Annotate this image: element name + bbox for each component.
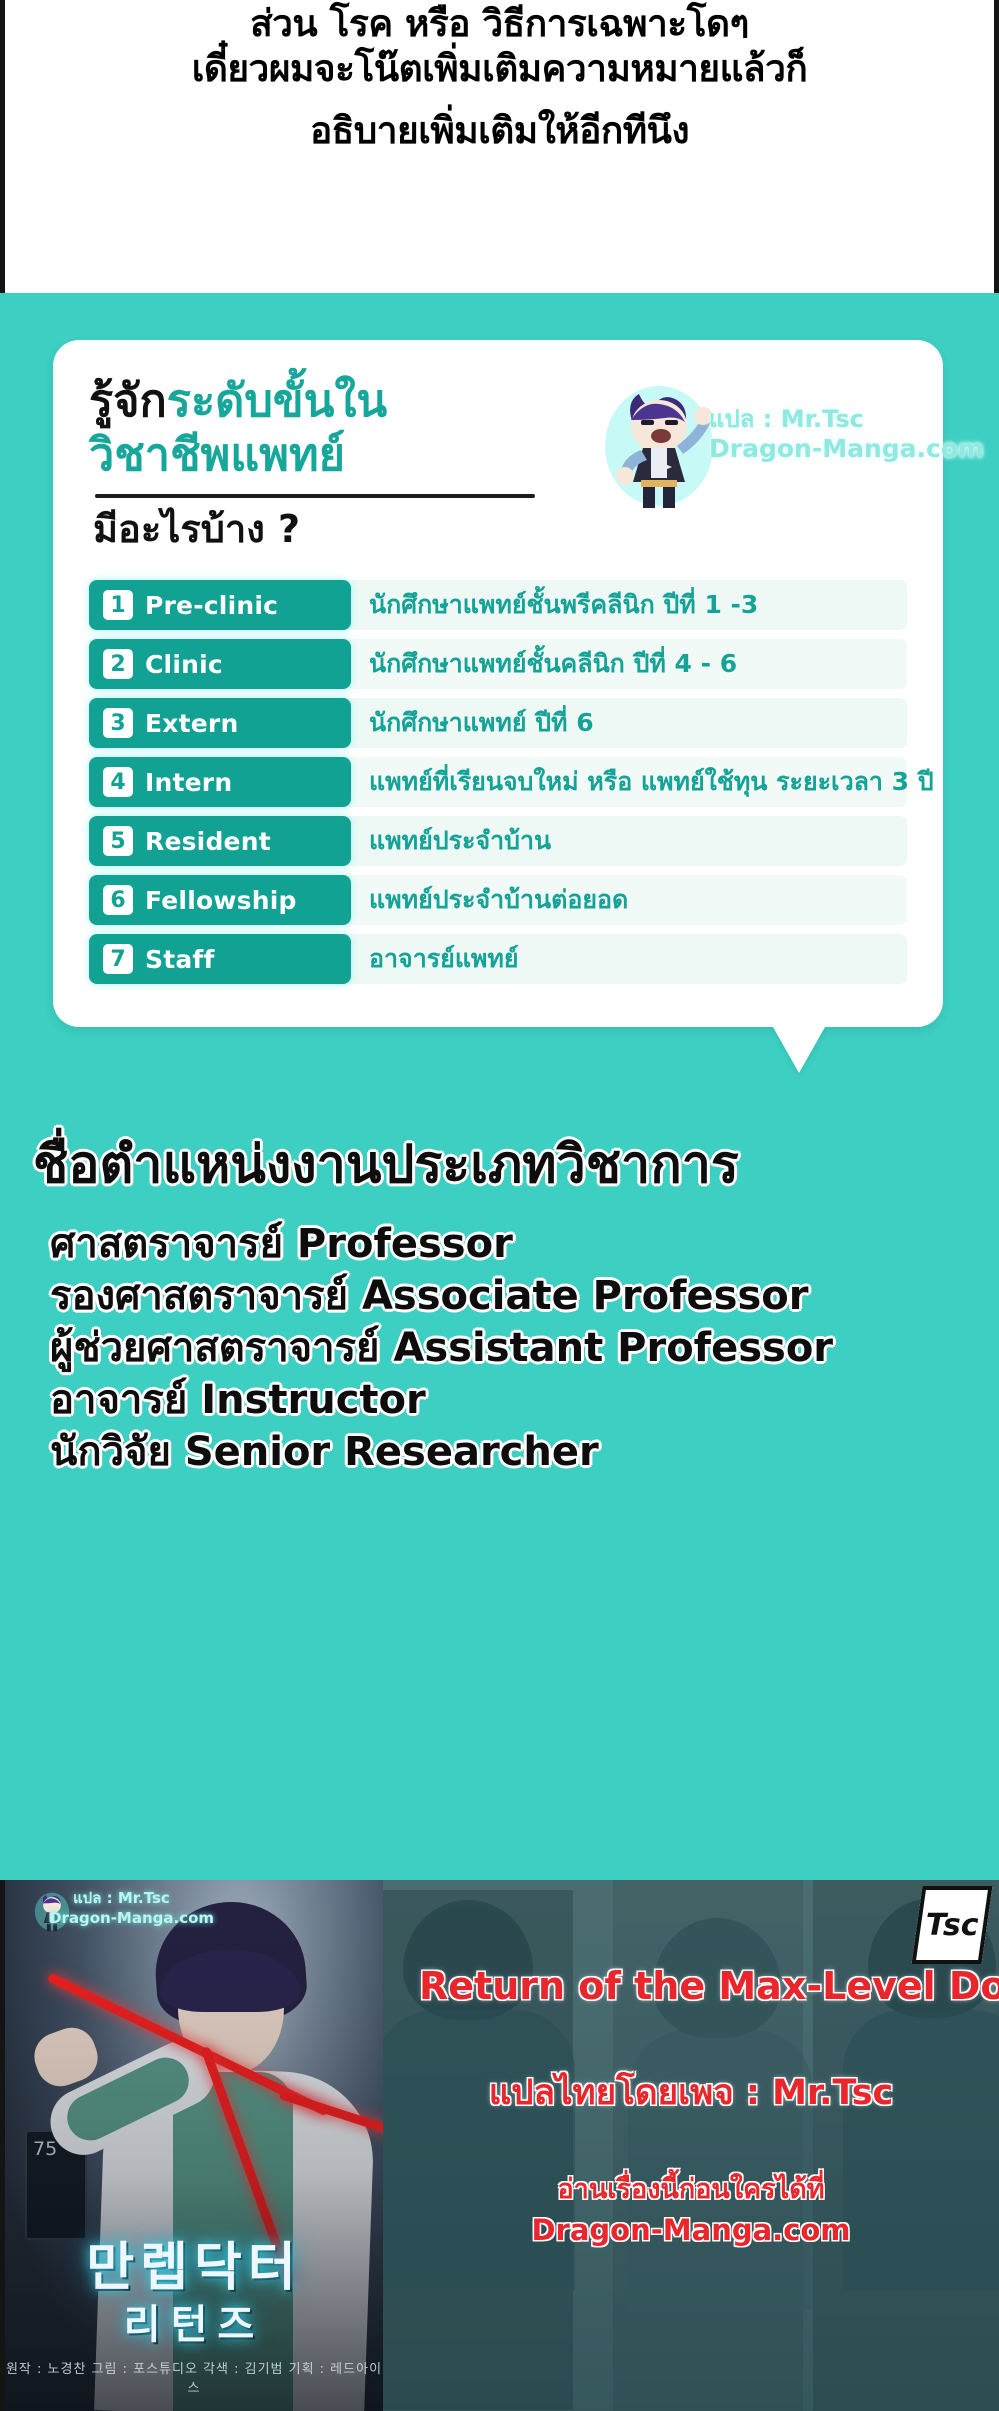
level-number: 5 bbox=[103, 826, 133, 856]
job-title: นักวิจัย Senior Researcher bbox=[50, 1426, 990, 1478]
site-url-text: Dragon-Manga.com bbox=[383, 2210, 999, 2250]
level-badge: 5 Resident bbox=[89, 816, 351, 866]
narration-line-3: อธิบายเพิ่มเติมให้อีกทีนึง bbox=[310, 100, 689, 162]
list-item: 6 Fellowship แพทย์ประจำบ้านต่อยอด bbox=[89, 875, 907, 925]
info-card-header: รู้จักระดับขั้นใน วิชาชีพแพทย์ มีอะไรบ้า… bbox=[89, 374, 907, 554]
job-title: ผู้ช่วยศาสตราจารย์ Assistant Professor bbox=[50, 1322, 990, 1374]
level-description: นักศึกษาแพทย์ชั้นพรีคลีนิก ปีที่ 1 -3 bbox=[351, 580, 907, 630]
level-badge: 7 Staff bbox=[89, 934, 351, 984]
level-description: แพทย์ประจำบ้าน bbox=[351, 816, 907, 866]
series-cover-art: 75 แปล : Mr.Tsc bbox=[5, 1880, 383, 2411]
chibi-character-icon bbox=[599, 380, 719, 508]
level-label: Fellowship bbox=[145, 886, 297, 915]
level-list: 1 Pre-clinic นักศึกษาแพทย์ชั้นพรีคลีนิก … bbox=[89, 580, 907, 984]
comic-page: ส่วน โรค หรือ วิธีการเฉพาะโดๆ เดี๋ยวผมจะ… bbox=[0, 0, 999, 2411]
level-label: Intern bbox=[145, 768, 232, 797]
narration-line-2: เดี๋ยวผมจะโน๊ตเพิ่มเติมความหมายแล้วก็ bbox=[192, 38, 808, 100]
level-description: อาจารย์แพทย์ bbox=[351, 934, 907, 984]
list-item: 1 Pre-clinic นักศึกษาแพทย์ชั้นพรีคลีนิก … bbox=[89, 580, 907, 630]
list-item: 7 Staff อาจารย์แพทย์ bbox=[89, 934, 907, 984]
list-item: 4 Intern แพทย์ที่เรียนจบใหม่ หรือ แพทย์ใ… bbox=[89, 757, 907, 807]
level-number: 2 bbox=[103, 649, 133, 679]
watermark: แปล : Mr.Tsc Dragon-Manga.com bbox=[709, 404, 969, 464]
watermark-line-2: Dragon-Manga.com bbox=[709, 434, 969, 464]
series-korean-title: 만렙닥터 bbox=[5, 2225, 383, 2300]
read-first-text: อ่านเรื่องนี้ก่อนใครได้ที่ bbox=[383, 2170, 999, 2210]
teal-section: รู้จักระดับขั้นใน วิชาชีพแพทย์ มีอะไรบ้า… bbox=[0, 293, 999, 1880]
level-number: 1 bbox=[103, 590, 133, 620]
level-description: แพทย์ที่เรียนจบใหม่ หรือ แพทย์ใช้ทุน ระย… bbox=[351, 757, 934, 807]
watermark-line-1: แปล : Mr.Tsc bbox=[709, 404, 969, 434]
list-item: 3 Extern นักศึกษาแพทย์ ปีที่ 6 bbox=[89, 698, 907, 748]
level-label: Pre-clinic bbox=[145, 591, 278, 620]
level-label: Extern bbox=[145, 709, 238, 738]
level-label: Clinic bbox=[145, 650, 223, 679]
title-divider bbox=[95, 494, 535, 498]
translator-credit: แปลไทยโดยเพจ : Mr.Tsc bbox=[383, 2068, 999, 2118]
level-badge: 3 Extern bbox=[89, 698, 351, 748]
level-description: แพทย์ประจำบ้านต่อยอด bbox=[351, 875, 907, 925]
chibi-watermark-group: แปล : Mr.Tsc Dragon-Manga.com bbox=[599, 380, 959, 510]
series-credits: 원작 : 노경찬 그림 : 포스튜디오 각색 : 김기범 기획 : 레드아이스 bbox=[5, 2358, 383, 2396]
cover-watermark: แปล : Mr.Tsc Dragon-Manga.com bbox=[29, 1888, 259, 1928]
level-number: 3 bbox=[103, 708, 133, 738]
promo-text-group: Return of the Max-Level Doctor แปลไทยโดย… bbox=[383, 1880, 999, 2411]
narration-line-1: ส่วน โรค หรือ วิธีการเฉพาะโดๆ bbox=[250, 0, 749, 38]
series-korean-subtitle: 리턴즈 bbox=[5, 2292, 383, 2350]
cover-watermark-line-1: แปล : Mr.Tsc bbox=[73, 1888, 259, 1908]
level-badge: 6 Fellowship bbox=[89, 875, 351, 925]
job-title: อาจารย์ Instructor bbox=[50, 1374, 990, 1426]
series-english-title: Return of the Max-Level Doctor bbox=[419, 1960, 999, 2012]
page-title: ชื่อตำแหน่งงานประเภทวิชาการ bbox=[33, 1133, 739, 1197]
level-badge: 4 Intern bbox=[89, 757, 351, 807]
cover-watermark-line-2: Dragon-Manga.com bbox=[49, 1908, 259, 1928]
level-badge: 2 Clinic bbox=[89, 639, 351, 689]
panel-border-left bbox=[0, 0, 5, 293]
job-title: ศาสตราจารย์ Professor bbox=[50, 1218, 990, 1270]
list-item: 5 Resident แพทย์ประจำบ้าน bbox=[89, 816, 907, 866]
card-title-line-3: มีอะไรบ้าง ? bbox=[93, 504, 907, 554]
level-label: Resident bbox=[145, 827, 271, 856]
level-description: นักศึกษาแพทย์ ปีที่ 6 bbox=[351, 698, 907, 748]
banner-border-left bbox=[0, 1880, 5, 2411]
job-title: รองศาสตราจารย์ Associate Professor bbox=[50, 1270, 990, 1322]
level-description: นักศึกษาแพทย์ชั้นคลีนิก ปีที่ 4 - 6 bbox=[351, 639, 907, 689]
panel-border-right bbox=[994, 0, 999, 293]
info-card: รู้จักระดับขั้นใน วิชาชีพแพทย์ มีอะไรบ้า… bbox=[53, 340, 943, 1027]
narration-block: ส่วน โรค หรือ วิธีการเฉพาะโดๆ เดี๋ยวผมจะ… bbox=[0, 0, 999, 293]
academic-job-list: ศาสตราจารย์ Professor รองศาสตราจารย์ Ass… bbox=[50, 1218, 990, 1478]
list-item: 2 Clinic นักศึกษาแพทย์ชั้นคลีนิก ปีที่ 4… bbox=[89, 639, 907, 689]
promo-panel: Tsc Return of the Max-Level Doctor แปลไท… bbox=[383, 1880, 999, 2411]
speech-bubble-tail bbox=[773, 1027, 825, 1073]
title-highlight: ระดับขั้นใน bbox=[167, 374, 387, 427]
title-prefix: รู้จัก bbox=[89, 374, 167, 427]
level-label: Staff bbox=[145, 945, 215, 974]
level-number: 7 bbox=[103, 944, 133, 974]
bottom-banner: 75 แปล : Mr.Tsc bbox=[0, 1880, 999, 2411]
level-number: 6 bbox=[103, 885, 133, 915]
level-badge: 1 Pre-clinic bbox=[89, 580, 351, 630]
level-number: 4 bbox=[103, 767, 133, 797]
